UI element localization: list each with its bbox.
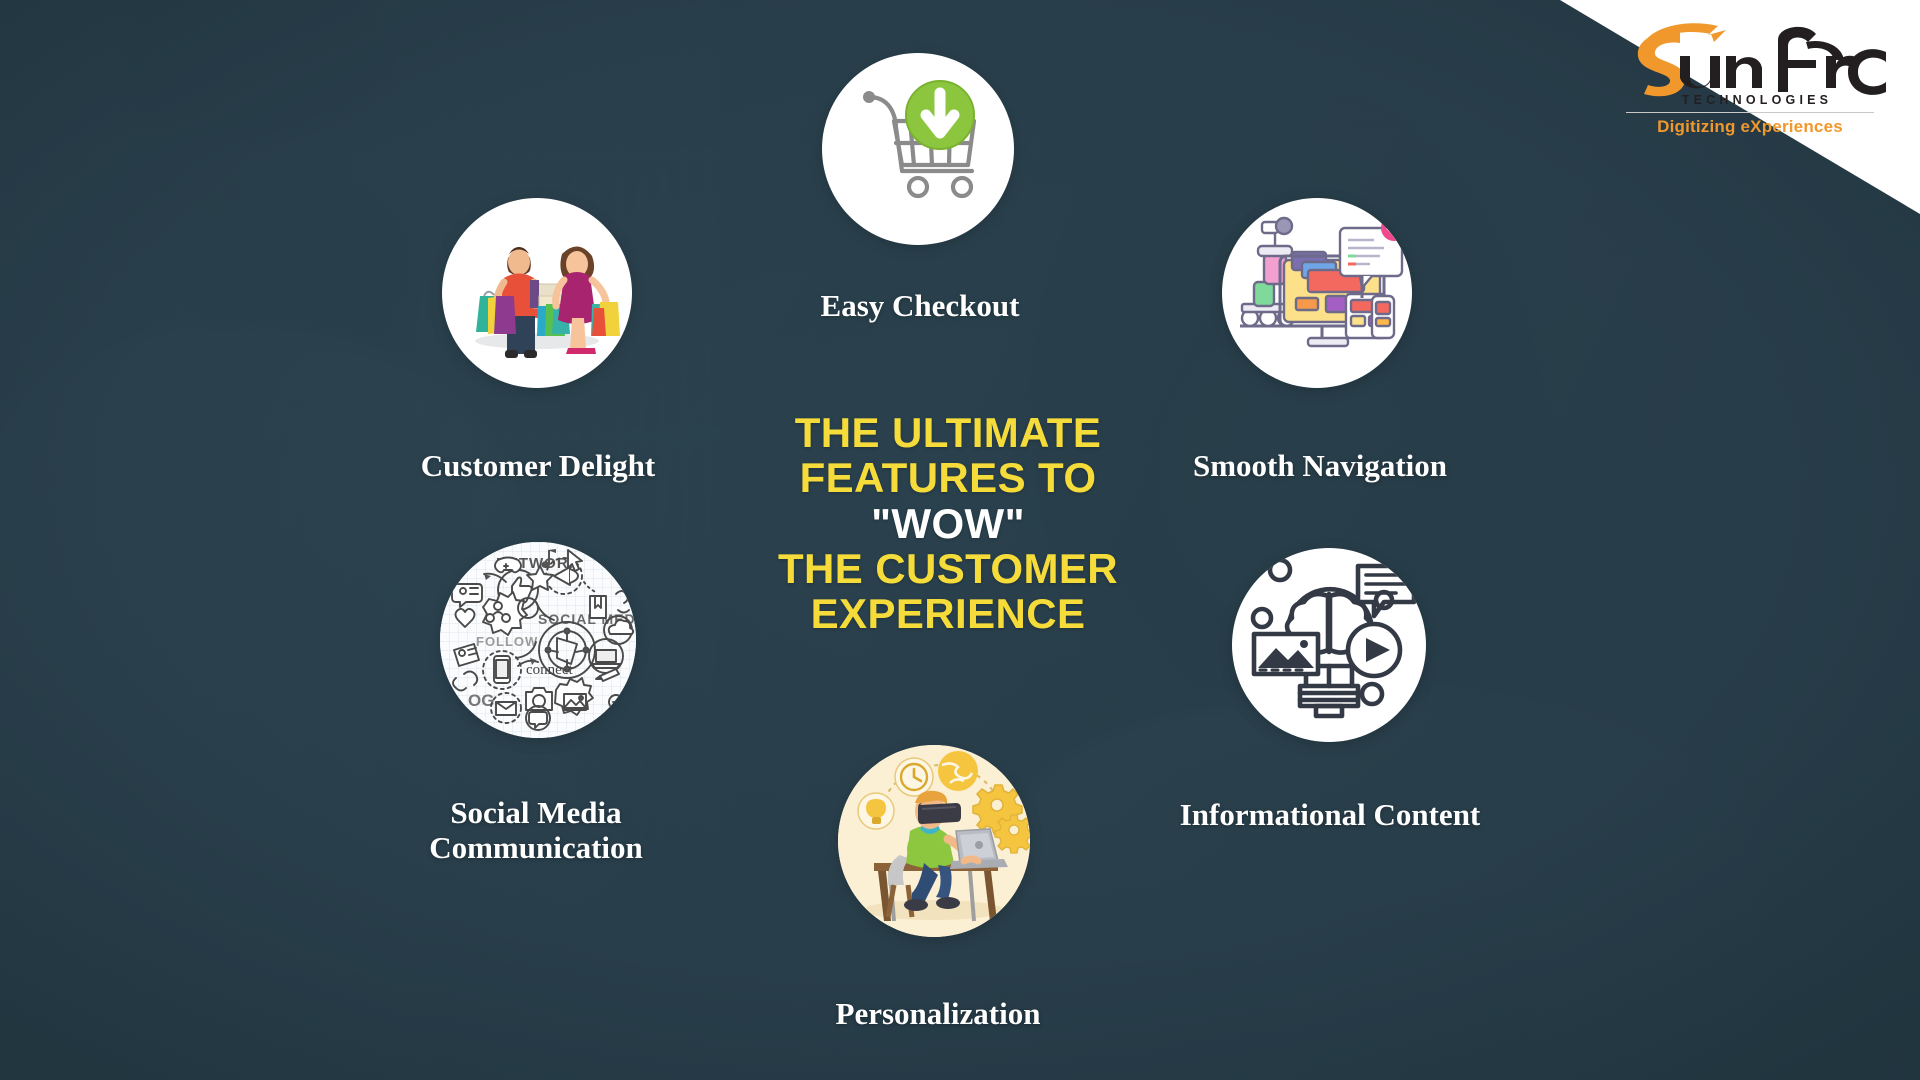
vr-laptop-person-icon	[838, 745, 1030, 937]
responsive-devices-icon	[1222, 198, 1412, 388]
feature-label-easy-checkout: Easy Checkout	[700, 288, 1140, 323]
brain-lightbulb-media-icon	[1232, 548, 1426, 742]
svg-text:OG: OG	[468, 691, 494, 710]
feature-node-smooth-navigation[interactable]	[1222, 198, 1412, 388]
feature-bubble-social-media: NETWORK SOCIAL MEDIA FOLLOW connect OG	[440, 542, 636, 738]
title-line-5: EXPERIENCE	[728, 591, 1168, 636]
sunarc-logo[interactable]: TECHNOLOGIES Digitizing eXperiences	[1600, 16, 1900, 135]
shopping-couple-icon	[442, 198, 632, 388]
feature-node-customer-delight[interactable]	[442, 198, 632, 388]
feature-node-personalization[interactable]	[838, 745, 1030, 937]
feature-bubble-informational-content	[1232, 548, 1426, 742]
shopping-cart-download-icon	[822, 53, 1014, 245]
feature-label-personalization: Personalization	[718, 996, 1158, 1031]
feature-label-customer-delight: Customer Delight	[318, 448, 758, 483]
social-media-doodle-icon: NETWORK SOCIAL MEDIA FOLLOW connect OG	[440, 542, 636, 738]
logo-tagline: Digitizing eXperiences	[1600, 118, 1900, 135]
logo-divider	[1626, 112, 1874, 113]
feature-node-easy-checkout[interactable]	[822, 53, 1014, 245]
feature-node-informational-content[interactable]	[1232, 548, 1426, 742]
title-line-wow: "WOW"	[728, 501, 1168, 546]
feature-node-social-media-communication[interactable]: NETWORK SOCIAL MEDIA FOLLOW connect OG	[440, 542, 636, 738]
feature-label-informational-content: Informational Content	[1110, 797, 1550, 832]
feature-bubble-customer-delight	[442, 198, 632, 388]
svg-text:FOLLOW: FOLLOW	[476, 634, 538, 649]
title-line-2: FEATURES TO	[728, 455, 1168, 500]
infographic-slide: TECHNOLOGIES Digitizing eXperiences	[0, 0, 1920, 1080]
feature-label-social-media-communication: Social Media Communication	[316, 795, 756, 866]
feature-bubble-smooth-navigation	[1222, 198, 1412, 388]
title-line-4: THE CUSTOMER	[728, 546, 1168, 591]
sunarc-logo-mark	[1600, 16, 1900, 98]
feature-bubble-personalization	[838, 745, 1030, 937]
feature-bubble-easy-checkout	[822, 53, 1014, 245]
main-title: THE ULTIMATE FEATURES TO "WOW" THE CUSTO…	[728, 410, 1168, 637]
title-line-1: THE ULTIMATE	[728, 410, 1168, 455]
